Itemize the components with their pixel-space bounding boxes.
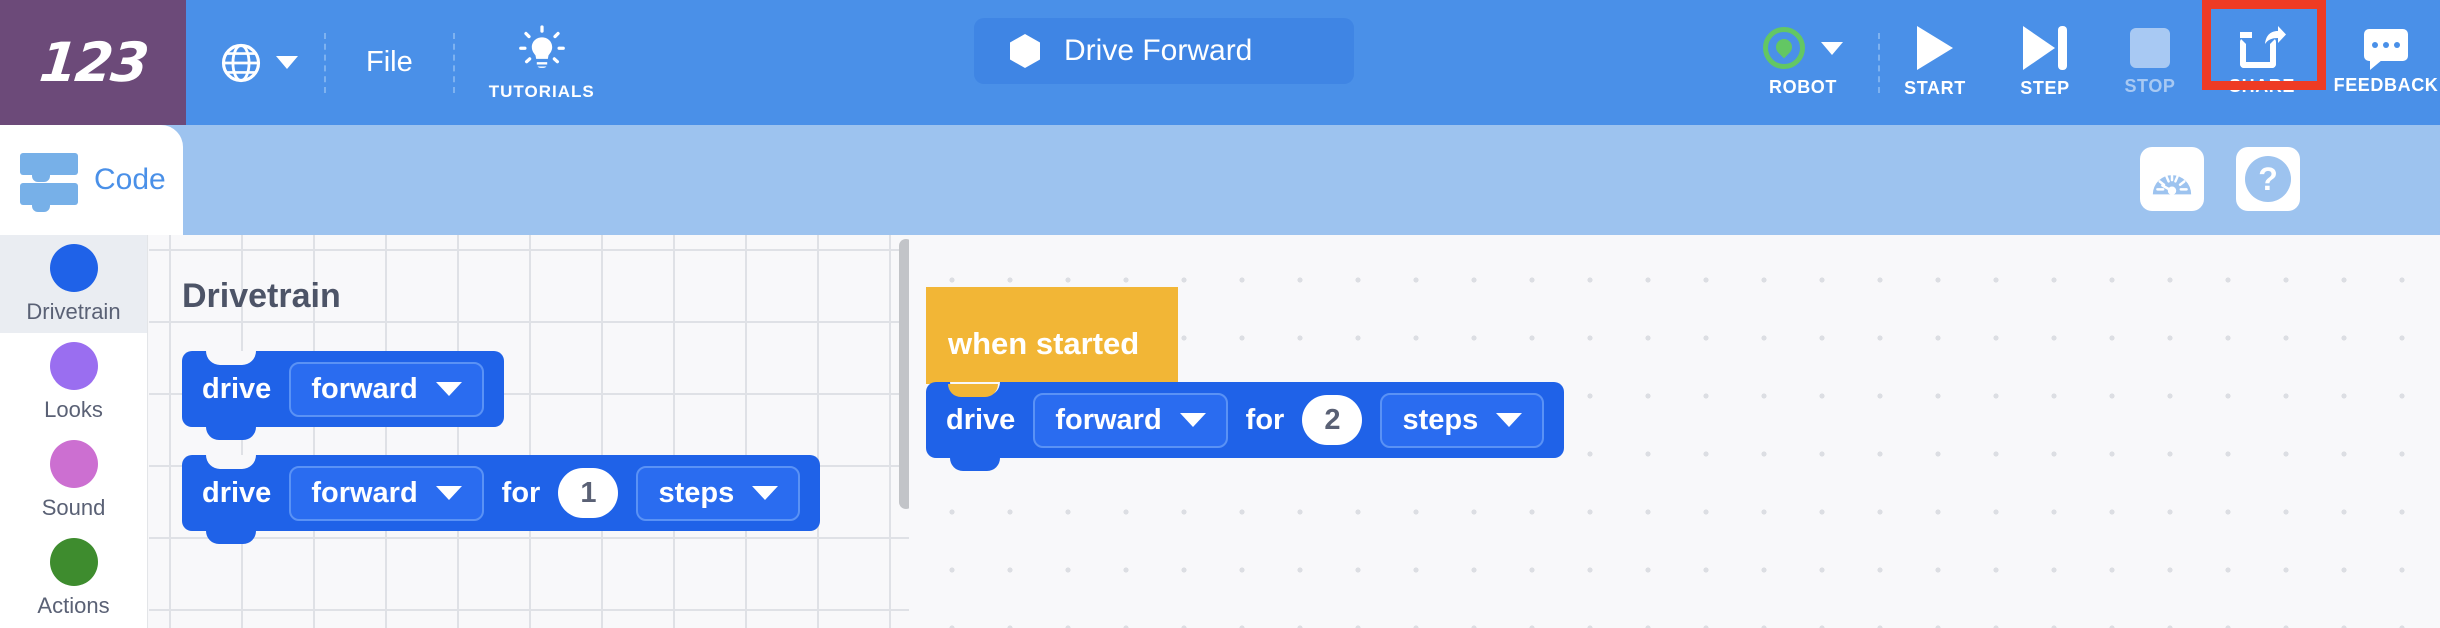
chevron-down-icon [1821,42,1843,55]
palette-block-drive-direction-for-units[interactable]: drive forward for 1 steps [182,455,820,531]
block-verb-label: drive [946,404,1015,437]
palette-block-drive-direction[interactable]: drive forward [182,351,504,427]
run-controls-group: ROBOT START STEP STOP [1728,0,2440,125]
help-button[interactable]: ? [2236,147,2300,211]
dashboard-button[interactable] [2140,147,2204,211]
block-palette[interactable]: Drivetrain drive forward drive forward f… [149,235,909,628]
block-for-label: for [1246,404,1285,437]
code-workspace[interactable]: when started drive forward for 2 steps [909,235,2440,628]
sidebar-item-label: Sound [42,495,106,521]
category-dot-looks [50,342,98,390]
app-logo-text: 123 [36,31,149,94]
chevron-down-icon [436,382,462,396]
comment-dots-icon [2364,29,2408,67]
globe-icon [220,42,262,84]
category-dot-sound [50,440,98,488]
project-title-text: Drive Forward [1064,34,1252,68]
start-button[interactable]: START [1880,0,1990,125]
sidebar-item-label: Drivetrain [26,299,120,325]
robot-label: ROBOT [1769,77,1837,98]
units-dropdown[interactable]: steps [636,466,800,521]
sidebar-item-looks[interactable]: Looks [0,333,147,431]
top-toolbar: 123 File [0,0,2440,125]
step-button[interactable]: STEP [1990,0,2100,125]
block-verb-label: drive [202,373,271,406]
units-dropdown-value: steps [658,477,734,510]
units-dropdown-value: steps [1402,404,1478,437]
when-started-label: when started [948,326,1139,362]
chevron-down-icon [752,486,778,500]
amount-input[interactable]: 1 [558,468,618,518]
code-blocks-icon [20,153,78,207]
robot-button[interactable]: ROBOT [1728,0,1878,125]
when-started-block[interactable]: when started [926,287,1178,384]
units-dropdown[interactable]: steps [1380,393,1544,448]
lightbulb-icon [516,24,568,76]
tutorials-label: TUTORIALS [489,82,595,102]
main-area: Drivetrain Looks Sound Actions Drivetrai… [0,235,2440,628]
app-logo: 123 [0,0,186,125]
chevron-down-icon [1496,413,1522,427]
question-mark-icon: ? [2245,156,2291,202]
palette-title: Drivetrain [182,277,341,316]
stop-square-icon [2130,28,2170,68]
file-menu-button[interactable]: File [326,0,453,125]
file-menu-label: File [366,46,413,79]
subbar-right-buttons: ? [2140,147,2300,211]
sidebar-item-actions[interactable]: Actions [0,529,147,627]
share-button[interactable]: SHARE [2200,0,2324,125]
category-rail: Drivetrain Looks Sound Actions [0,235,148,628]
direction-dropdown[interactable]: forward [1033,393,1227,448]
hexagon-icon [1010,34,1040,68]
stop-label: STOP [2124,76,2175,97]
category-dot-actions [50,538,98,586]
amount-input[interactable]: 2 [1302,395,1362,445]
play-icon [1917,26,1953,70]
direction-dropdown[interactable]: forward [289,466,483,521]
sidebar-item-label: Actions [37,593,109,619]
gauge-dashboard-icon [2149,159,2195,199]
direction-dropdown-value: forward [311,373,417,406]
start-label: START [1904,78,1966,99]
block-for-label: for [502,477,541,510]
share-label: SHARE [2229,76,2295,97]
category-dot-drivetrain [50,244,98,292]
step-forward-icon [2023,26,2067,70]
tab-code[interactable]: Code [0,125,183,235]
robot-status-row [1763,27,1843,69]
chevron-down-icon [1180,413,1206,427]
sidebar-item-sound[interactable]: Sound [0,431,147,529]
share-export-icon [2240,28,2284,68]
sidebar-item-label: Looks [44,397,103,423]
workspace-block-drive-direction-for-units[interactable]: drive forward for 2 steps [926,382,1564,458]
block-verb-label: drive [202,477,271,510]
project-title-field[interactable]: Drive Forward [974,18,1354,84]
stop-button[interactable]: STOP [2100,0,2200,125]
chevron-down-icon [436,486,462,500]
direction-dropdown-value: forward [311,477,417,510]
feedback-label: FEEDBACK [2334,75,2439,96]
step-label: STEP [2020,78,2069,99]
chevron-down-icon [276,56,298,69]
language-menu-button[interactable] [186,0,324,125]
robot-status-icon [1763,27,1805,69]
secondary-toolbar: Code [0,125,2440,235]
feedback-button[interactable]: FEEDBACK [2324,0,2440,125]
direction-dropdown-value: forward [1055,404,1161,437]
tab-code-label: Code [94,163,166,197]
direction-dropdown[interactable]: forward [289,362,483,417]
sidebar-item-drivetrain[interactable]: Drivetrain [0,235,147,333]
tutorials-button[interactable]: TUTORIALS [455,0,629,125]
vexcode-123-app: 123 File [0,0,2440,628]
